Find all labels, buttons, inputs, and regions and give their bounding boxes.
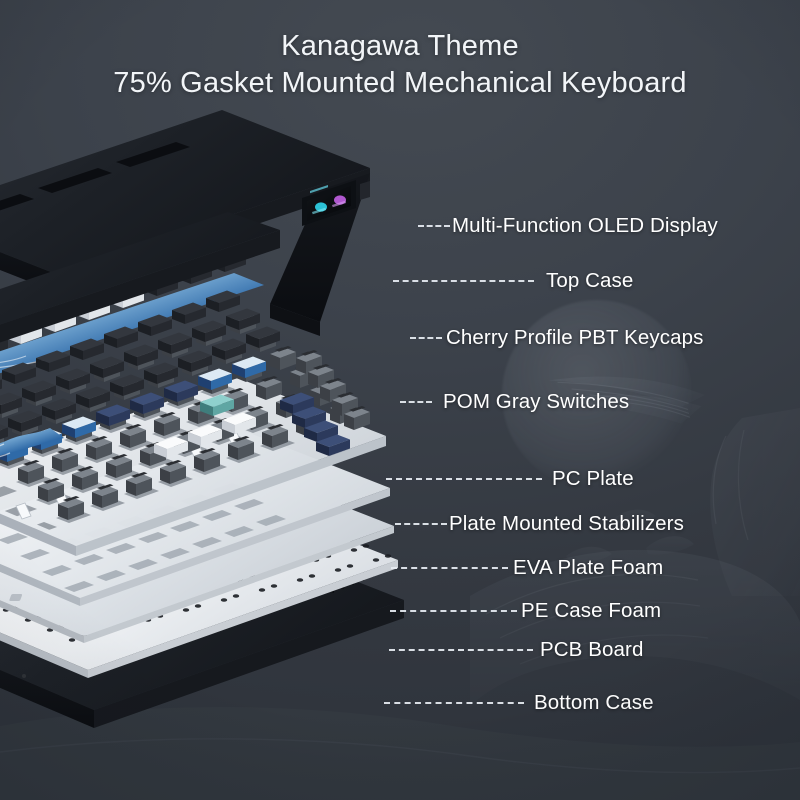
callout-label-top-case: Top Case [546,269,633,293]
leader-line-switches [400,401,432,403]
leader-line-oled-display [418,225,450,227]
leader-line-eva-plate-foam [391,567,508,569]
leader-line-pcb-board [389,649,533,651]
product-exploded-view: Kanagawa Theme 75% Gasket Mounted Mechan… [0,0,800,800]
page-title: Kanagawa Theme 75% Gasket Mounted Mechan… [0,28,800,102]
leader-line-pc-plate [386,478,542,480]
leader-line-bottom-case [384,702,524,704]
callout-label-keycaps: Cherry Profile PBT Keycaps [446,326,703,350]
callout-label-eva-plate-foam: EVA Plate Foam [513,556,663,580]
leader-line-keycaps [410,337,442,339]
title-line-2: 75% Gasket Mounted Mechanical Keyboard [0,64,800,102]
callout-label-pcb-board: PCB Board [540,638,643,662]
leader-line-pe-case-foam [390,610,517,612]
title-line-1: Kanagawa Theme [0,28,800,64]
callout-label-pe-case-foam: PE Case Foam [521,599,661,623]
callout-label-oled-display: Multi-Function OLED Display [452,214,718,238]
leader-line-top-case [393,280,534,282]
leader-line-stabilizers [395,523,447,525]
callout-label-pc-plate: PC Plate [552,467,634,491]
callout-label-bottom-case: Bottom Case [534,691,654,715]
callout-label-switches: POM Gray Switches [443,390,629,414]
keyboard-exploded-illustration [0,176,464,736]
callout-label-stabilizers: Plate Mounted Stabilizers [449,512,684,536]
